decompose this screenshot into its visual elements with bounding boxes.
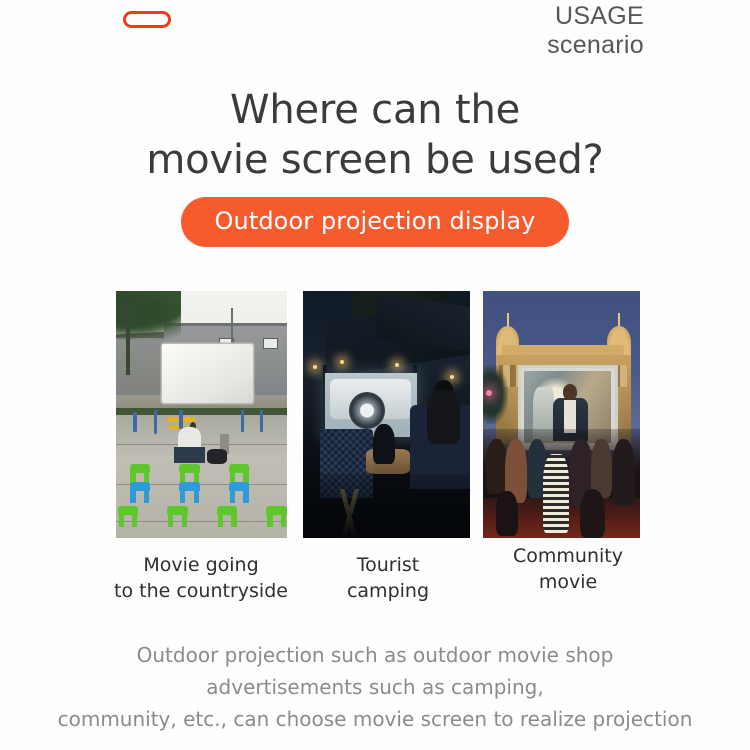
caption-line-1: Movie going xyxy=(96,552,306,578)
equipment-bag xyxy=(207,449,228,464)
tree-trunk xyxy=(126,306,129,375)
street-light xyxy=(395,363,399,367)
exercise-equipment xyxy=(133,412,137,432)
exercise-equipment xyxy=(241,410,244,432)
audience-person xyxy=(612,439,636,506)
projector-equipment xyxy=(174,447,205,463)
plastic-stool xyxy=(167,506,188,527)
page-title: Where can the movie screen be used? xyxy=(0,85,750,185)
rounded-rectangle-outline-icon xyxy=(123,11,171,28)
exercise-equipment xyxy=(154,410,157,435)
gallery-item[interactable] xyxy=(116,291,287,538)
plastic-stool xyxy=(229,482,250,503)
caption-line-2: movie xyxy=(480,569,656,595)
exercise-equipment xyxy=(179,410,182,430)
caption-community-movie: Community movie xyxy=(480,543,656,595)
caption-line-1: Tourist xyxy=(300,552,476,578)
pavement-seam xyxy=(116,444,287,445)
caption-movie-countryside: Movie going to the countryside xyxy=(96,552,306,604)
photo-gallery xyxy=(116,291,640,538)
audience-person xyxy=(496,491,518,535)
footer-line-1: Outdoor projection such as outdoor movie… xyxy=(0,639,750,671)
eyebrow-label: USAGE scenario xyxy=(547,2,644,60)
street-light xyxy=(450,375,454,379)
audience-person-striped-shirt xyxy=(543,454,570,533)
photo-tourist-camping xyxy=(303,291,470,538)
projected-actor-head xyxy=(563,384,578,400)
gallery-item[interactable] xyxy=(483,291,640,538)
caption-tourist-camping: Tourist camping xyxy=(300,552,476,604)
caption-line-2: camping xyxy=(300,578,476,604)
cta-container: Outdoor projection display xyxy=(0,197,750,247)
antenna-pole xyxy=(231,308,233,343)
building-window xyxy=(263,338,278,349)
projection-screen xyxy=(162,344,253,403)
person-seated xyxy=(427,390,460,444)
exercise-equipment xyxy=(260,410,263,432)
page-title-line-2: movie screen be used? xyxy=(0,135,750,185)
plastic-stool xyxy=(266,506,287,527)
plastic-stool xyxy=(118,506,139,527)
pink-light-glow xyxy=(486,390,492,396)
plastic-stool xyxy=(179,482,200,503)
caption-line-2: to the countryside xyxy=(96,578,306,604)
footer-line-2: advertisements such as camping, xyxy=(0,671,750,703)
audience-person xyxy=(580,489,605,538)
plastic-stool xyxy=(130,482,151,503)
child-seated xyxy=(373,424,395,464)
pavement-seam xyxy=(116,521,287,522)
projected-actor-shirt xyxy=(564,400,575,433)
footer-line-3: community, etc., can choose movie screen… xyxy=(0,703,750,735)
audience-person xyxy=(486,439,506,493)
footer-description: Outdoor projection such as outdoor movie… xyxy=(0,639,750,735)
ground-layer xyxy=(303,474,470,538)
plastic-stool xyxy=(217,506,238,527)
photo-movie-countryside xyxy=(116,291,287,538)
photo-community-movie xyxy=(483,291,640,538)
page-title-line-1: Where can the xyxy=(0,85,750,135)
eyebrow-line-1: USAGE xyxy=(547,2,644,31)
street-light xyxy=(340,360,344,364)
outdoor-projection-display-button[interactable]: Outdoor projection display xyxy=(181,197,570,247)
projection-screen xyxy=(325,373,417,437)
usage-scenario-page: USAGE scenario Where can the movie scree… xyxy=(0,0,750,750)
caption-line-1: Community xyxy=(480,543,656,569)
gallery-item[interactable] xyxy=(303,291,470,538)
eyebrow-line-2: scenario xyxy=(547,31,644,60)
